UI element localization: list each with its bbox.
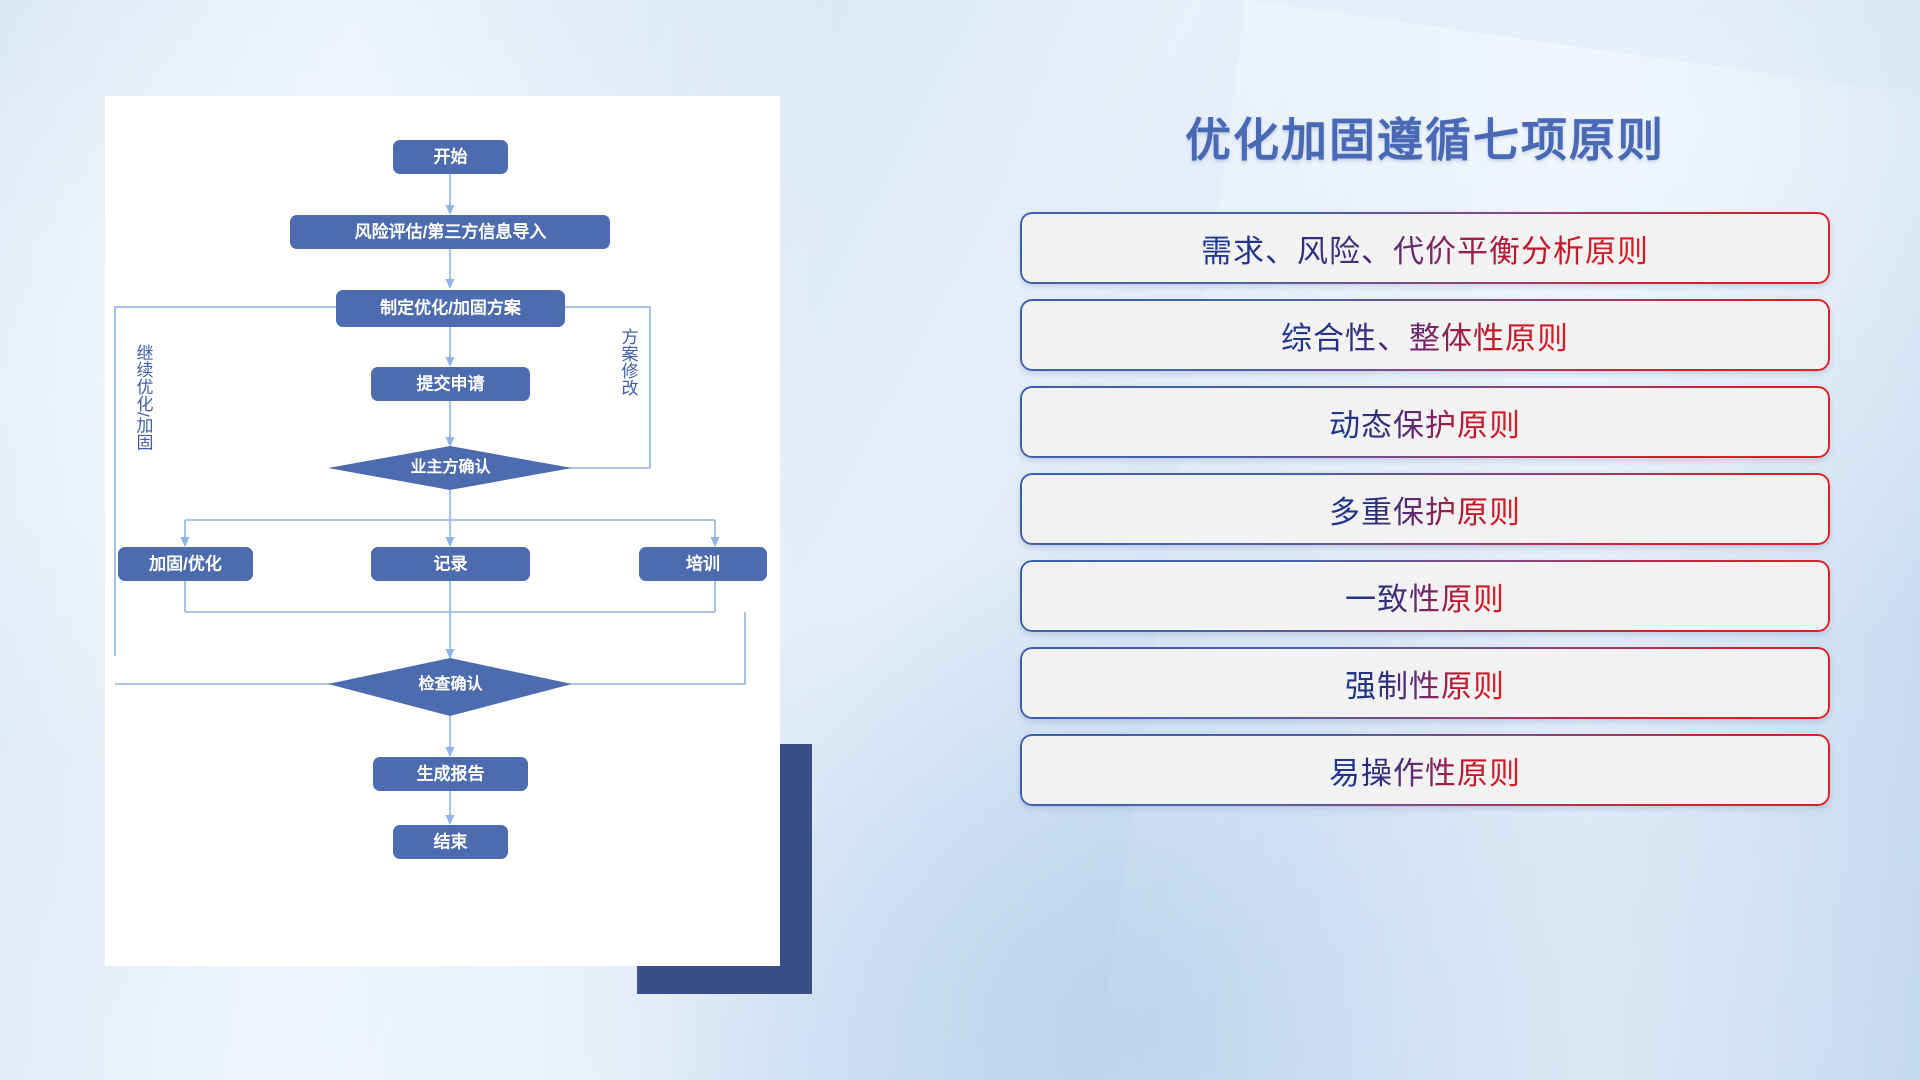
principle-item-3-label: 动态保护原则: [1329, 400, 1521, 445]
principles-title: 优化加固遵循七项原则: [1020, 104, 1830, 170]
flowchart-card: 开始 风险评估/第三方信息导入 制定优化/加固方案 提交申请 业主方确认 加固/: [105, 96, 780, 966]
flow-node-record[interactable]: 记录: [371, 547, 530, 581]
flow-node-start-label: 开始: [434, 146, 468, 166]
flowchart-diagram: 开始 风险评估/第三方信息导入 制定优化/加固方案 提交申请 业主方确认 加固/: [105, 96, 780, 966]
flow-edge-label-right-loop: 方案修改: [619, 328, 639, 396]
flow-node-owner-confirm[interactable]: 业主方确认: [328, 446, 572, 490]
principle-item-7[interactable]: 易操作性原则: [1020, 734, 1830, 806]
principle-item-4-label: 多重保护原则: [1329, 487, 1521, 532]
flow-node-end-label: 结束: [434, 831, 468, 851]
principle-item-4[interactable]: 多重保护原则: [1020, 473, 1830, 545]
principle-item-1[interactable]: 需求、风险、代价平衡分析原则: [1020, 212, 1830, 284]
flow-node-reinforce-optimize[interactable]: 加固/优化: [118, 547, 253, 581]
flow-node-end[interactable]: 结束: [393, 825, 508, 859]
principle-item-5-label: 一致性原则: [1345, 574, 1505, 619]
principle-item-7-label: 易操作性原则: [1329, 748, 1521, 793]
principle-item-6-label: 强制性原则: [1345, 661, 1505, 706]
flow-node-start[interactable]: 开始: [393, 140, 508, 174]
flow-node-risk-assessment-label: 风险评估/第三方信息导入: [355, 221, 547, 241]
flow-node-make-plan-label: 制定优化/加固方案: [380, 297, 522, 317]
flow-node-owner-confirm-label: 业主方确认: [410, 457, 491, 476]
flow-node-reinforce-optimize-label: 加固/优化: [148, 553, 222, 573]
principles-pane: 优化加固遵循七项原则 需求、风险、代价平衡分析原则 综合性、整体性原则 动态保护…: [1020, 96, 1830, 996]
flow-node-submit-application-label: 提交申请: [417, 373, 485, 393]
flow-node-submit-application[interactable]: 提交申请: [371, 367, 530, 401]
flow-node-generate-report[interactable]: 生成报告: [373, 757, 528, 791]
principles-list: 需求、风险、代价平衡分析原则 综合性、整体性原则 动态保护原则 多重保护原则 一…: [1020, 212, 1830, 806]
flow-node-check-confirm-label: 检查确认: [418, 674, 483, 693]
flow-node-training[interactable]: 培训: [639, 547, 767, 581]
principle-item-2[interactable]: 综合性、整体性原则: [1020, 299, 1830, 371]
principle-item-6[interactable]: 强制性原则: [1020, 647, 1830, 719]
flow-node-make-plan[interactable]: 制定优化/加固方案: [336, 290, 565, 327]
flow-node-record-label: 记录: [434, 554, 468, 573]
flow-node-risk-assessment[interactable]: 风险评估/第三方信息导入: [290, 215, 610, 249]
principle-item-3[interactable]: 动态保护原则: [1020, 386, 1830, 458]
principle-item-1-label: 需求、风险、代价平衡分析原则: [1201, 226, 1649, 271]
flow-node-generate-report-label: 生成报告: [417, 763, 485, 783]
principle-item-2-label: 综合性、整体性原则: [1281, 313, 1569, 358]
principle-item-5[interactable]: 一致性原则: [1020, 560, 1830, 632]
flow-edge-label-left-loop: 继续优化/加固: [134, 344, 154, 451]
flow-node-check-confirm[interactable]: 检查确认: [328, 658, 572, 716]
slide-canvas: 开始 风险评估/第三方信息导入 制定优化/加固方案 提交申请 业主方确认 加固/: [0, 0, 1920, 1080]
flow-node-training-label: 培训: [686, 553, 720, 573]
